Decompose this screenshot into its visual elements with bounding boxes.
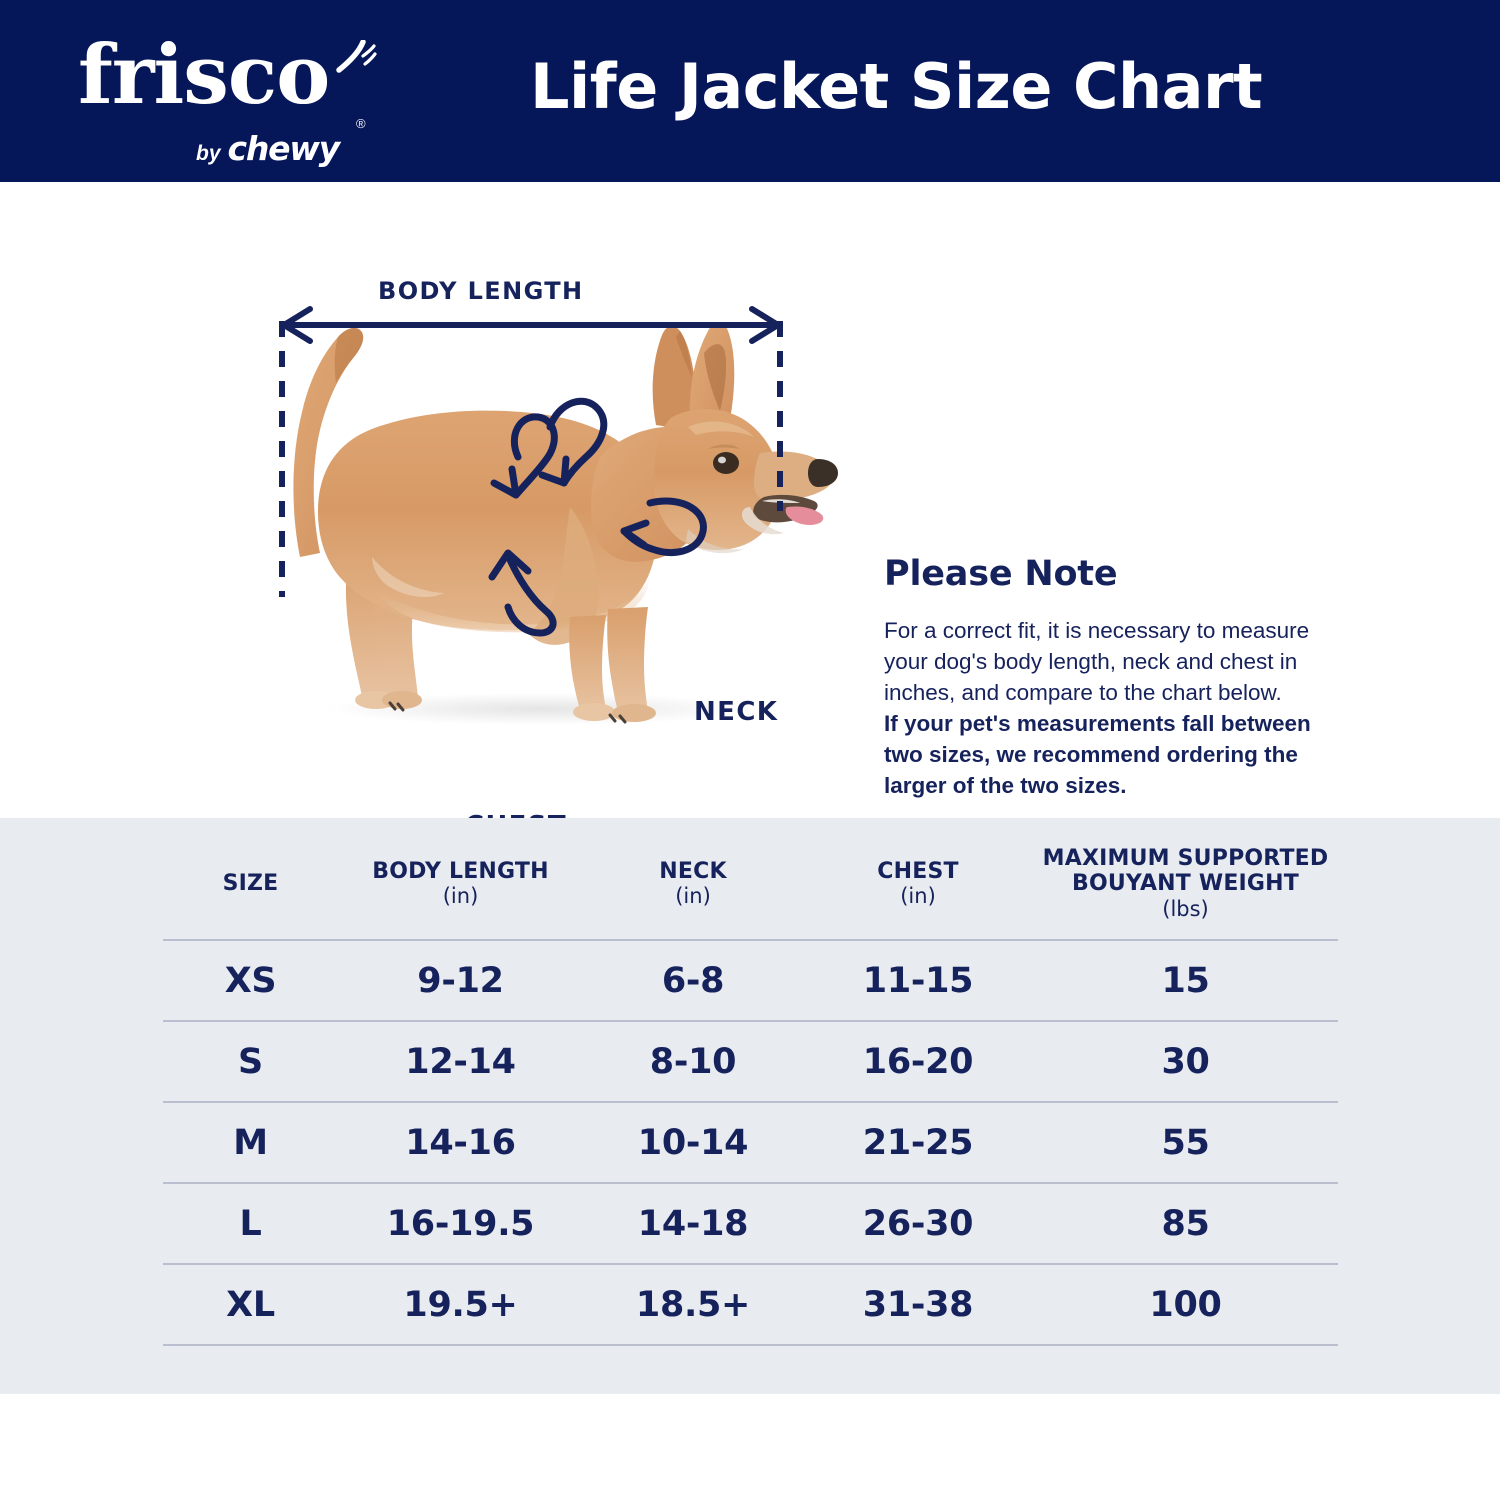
please-note-emphasis: If your pet's measurements fall between …: [884, 708, 1354, 801]
cell-body-length: 19.5+: [338, 1264, 583, 1345]
size-table-panel: SIZE BODY LENGTH (in) NECK (in) CHEST (i…: [0, 818, 1500, 1394]
size-chart-table: SIZE BODY LENGTH (in) NECK (in) CHEST (i…: [163, 818, 1338, 1346]
table-row: S 12-14 8-10 16-20 30: [163, 1021, 1338, 1102]
cell-max-weight: 55: [1033, 1102, 1338, 1183]
label-body-length: BODY LENGTH: [378, 277, 584, 305]
please-note-paragraph: For a correct fit, it is necessary to me…: [884, 615, 1354, 708]
dog-paw-3: [573, 703, 615, 721]
cell-neck: 8-10: [583, 1021, 803, 1102]
dog-paw-2: [382, 691, 422, 709]
dog-nose: [808, 459, 838, 487]
cell-chest: 11-15: [803, 940, 1033, 1021]
please-note-heading: Please Note: [884, 554, 1354, 594]
column-header-chest-unit: (in): [803, 884, 1033, 908]
cell-size: XL: [163, 1264, 338, 1345]
size-chart-page: frisco ® by chewy Life Jacket Size Chart: [0, 0, 1500, 1500]
measurement-diagram-area: BODY LENGTH NECK CHEST Please Note For a…: [0, 182, 1500, 818]
column-header-max-weight-label: MAXIMUM SUPPORTED BOUYANT WEIGHT: [1043, 846, 1329, 897]
brand-wordmark: frisco: [78, 38, 378, 115]
cell-neck: 18.5+: [583, 1264, 803, 1345]
dog-tongue: [786, 506, 824, 525]
column-header-size: SIZE: [163, 818, 338, 940]
column-header-neck-unit: (in): [583, 884, 803, 908]
please-note-block: Please Note For a correct fit, it is nec…: [884, 554, 1354, 801]
column-header-max-weight-unit: (lbs): [1033, 897, 1338, 921]
cell-chest: 26-30: [803, 1183, 1033, 1264]
cell-neck: 6-8: [583, 940, 803, 1021]
column-header-body-length: BODY LENGTH (in): [338, 818, 583, 940]
cell-body-length: 14-16: [338, 1102, 583, 1183]
dog-measurement-illustration: [240, 257, 860, 737]
table-row: L 16-19.5 14-18 26-30 85: [163, 1183, 1338, 1264]
table-row: XL 19.5+ 18.5+ 31-38 100: [163, 1264, 1338, 1345]
label-neck: NECK: [694, 697, 778, 727]
header-bar: frisco ® by chewy Life Jacket Size Chart: [0, 0, 1500, 182]
cell-body-length: 12-14: [338, 1021, 583, 1102]
cell-max-weight: 15: [1033, 940, 1338, 1021]
dog-paw-4: [612, 704, 656, 722]
column-header-body-length-label: BODY LENGTH: [372, 859, 548, 884]
cell-max-weight: 85: [1033, 1183, 1338, 1264]
column-header-chest-label: CHEST: [877, 859, 958, 884]
cell-body-length: 16-19.5: [338, 1183, 583, 1264]
cell-chest: 31-38: [803, 1264, 1033, 1345]
table-header-row: SIZE BODY LENGTH (in) NECK (in) CHEST (i…: [163, 818, 1338, 940]
cell-body-length: 9-12: [338, 940, 583, 1021]
dog-body-group: [293, 322, 838, 722]
column-header-body-length-unit: (in): [338, 884, 583, 908]
size-table-body: XS 9-12 6-8 11-15 15 S 12-14 8-10 16-20 …: [163, 940, 1338, 1345]
cell-neck: 10-14: [583, 1102, 803, 1183]
cell-max-weight: 30: [1033, 1021, 1338, 1102]
page-title: Life Jacket Size Chart: [530, 56, 1262, 118]
logo-byline: by chewy: [196, 129, 339, 168]
table-row: M 14-16 10-14 21-25 55: [163, 1102, 1338, 1183]
column-header-neck: NECK (in): [583, 818, 803, 940]
logo-by-text: by: [196, 142, 221, 166]
frisco-by-chewy-logo: frisco ® by chewy: [78, 38, 378, 158]
cell-neck: 14-18: [583, 1183, 803, 1264]
dog-diagram-svg: [240, 257, 860, 737]
chewy-wordmark: chewy: [228, 129, 339, 168]
column-header-neck-label: NECK: [659, 859, 726, 884]
cell-chest: 21-25: [803, 1102, 1033, 1183]
column-header-max-weight: MAXIMUM SUPPORTED BOUYANT WEIGHT (lbs): [1033, 818, 1338, 940]
column-header-chest: CHEST (in): [803, 818, 1033, 940]
cell-size: M: [163, 1102, 338, 1183]
cell-size: XS: [163, 940, 338, 1021]
registered-trademark-mark: ®: [356, 116, 366, 131]
cell-size: S: [163, 1021, 338, 1102]
column-header-size-label: SIZE: [223, 871, 279, 896]
dog-eye: [713, 452, 739, 474]
cell-max-weight: 100: [1033, 1264, 1338, 1345]
cell-size: L: [163, 1183, 338, 1264]
cell-chest: 16-20: [803, 1021, 1033, 1102]
table-row: XS 9-12 6-8 11-15 15: [163, 940, 1338, 1021]
size-table-head: SIZE BODY LENGTH (in) NECK (in) CHEST (i…: [163, 818, 1338, 940]
